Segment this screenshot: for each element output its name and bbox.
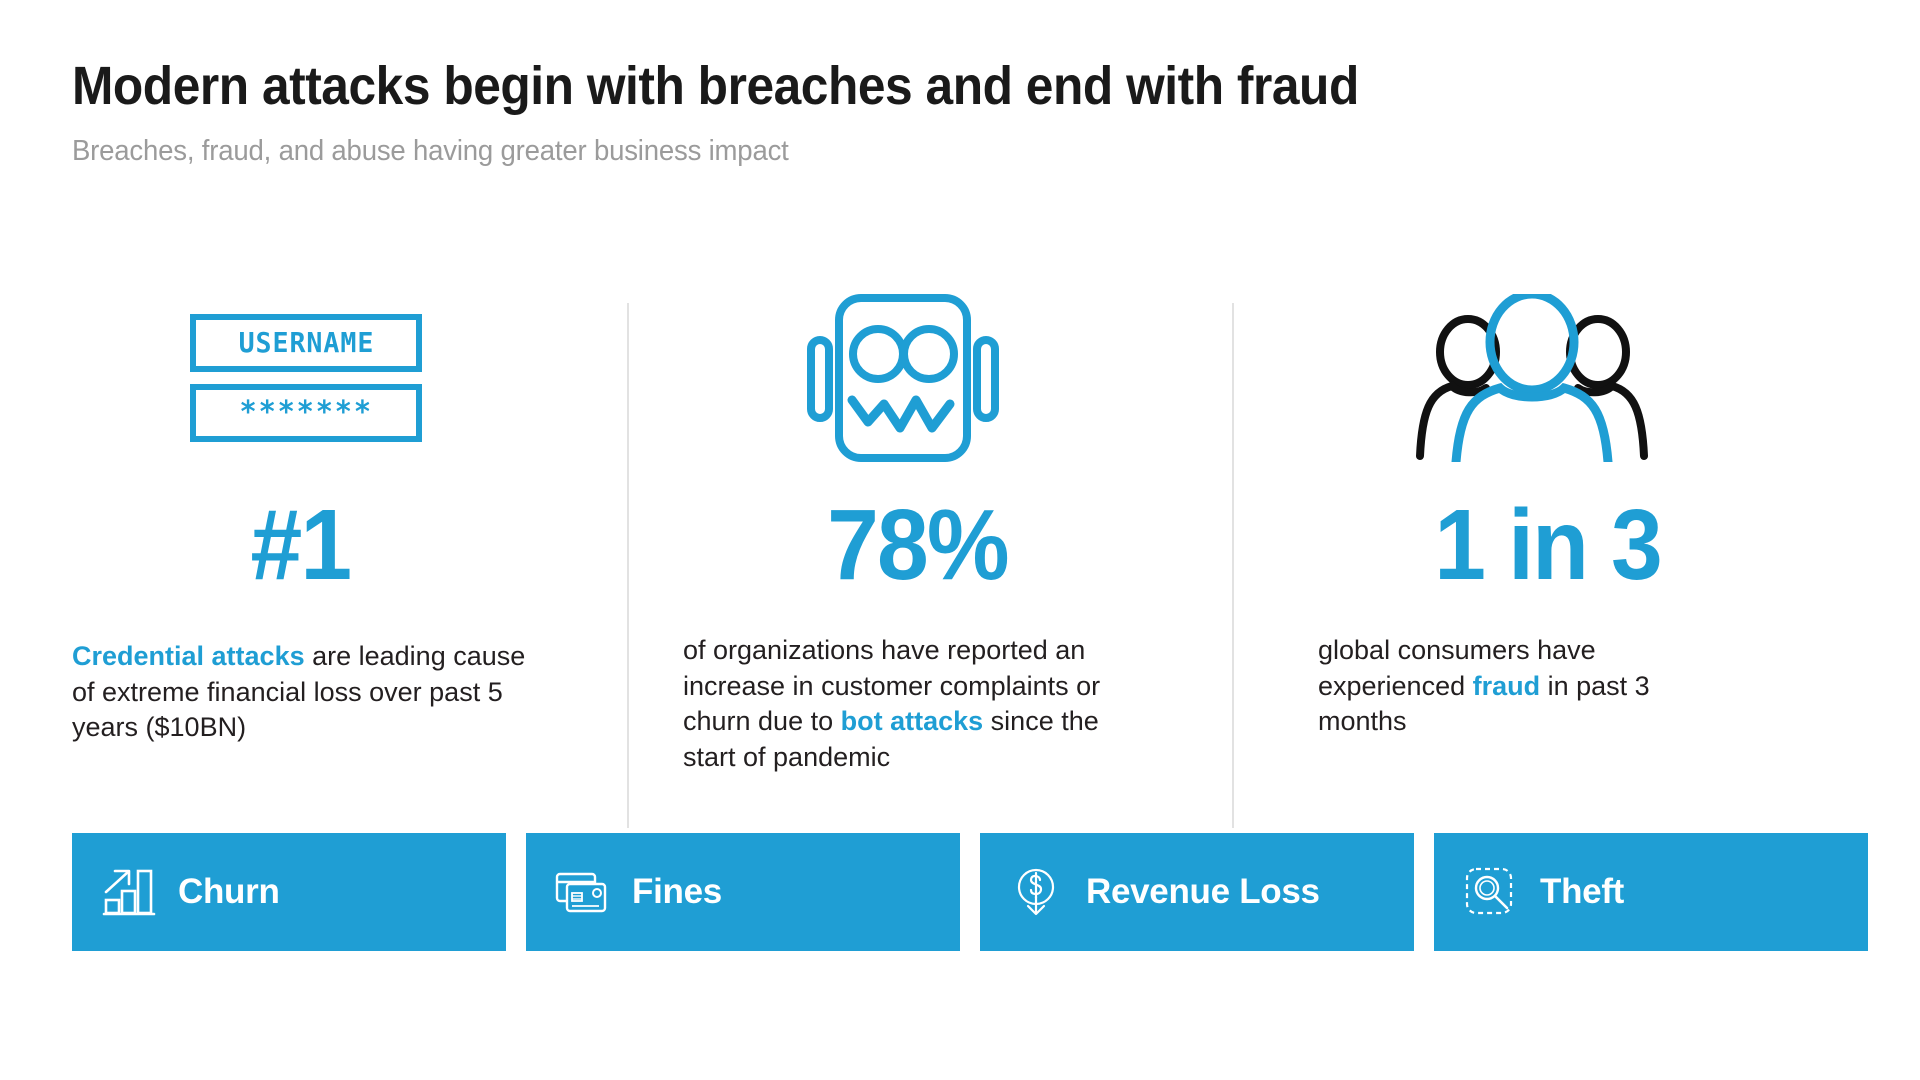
stat-value-bots: 78% (683, 489, 1167, 601)
stat-description-consumers: global consumers have experienced fraud … (1318, 633, 1738, 740)
stat-description-bots: of organizations have reported an increa… (683, 633, 1145, 776)
banner-button-theft[interactable]: Theft (1434, 833, 1868, 951)
stat-column-credentials: USERNAME ******* #1 Credential attacks a… (72, 290, 592, 746)
banner-label-theft: Theft (1540, 872, 1624, 912)
credit-cards-icon (552, 863, 612, 921)
password-masked-label: ******* (239, 398, 372, 428)
stat-description-credentials: Credential attacks are leading cause of … (72, 639, 532, 746)
highlight-credential-attacks: Credential attacks (72, 641, 305, 671)
stat-column-bots: 78% of organizations have reported an in… (683, 290, 1203, 776)
bot-icon (805, 292, 1001, 464)
bot-icon-wrap (683, 290, 1203, 465)
column-divider-2 (1232, 303, 1234, 828)
slide-header: Modern attacks begin with breaches and e… (72, 58, 1772, 168)
page-title: Modern attacks begin with breaches and e… (72, 58, 1636, 115)
banner-button-churn[interactable]: Churn (72, 833, 506, 951)
username-label: USERNAME (238, 329, 374, 357)
dollar-down-arrow-icon (1006, 863, 1066, 921)
username-field-box: USERNAME (190, 314, 422, 372)
impact-banner-row: Churn Fines Revenue L (72, 833, 1862, 951)
banner-label-revenue-loss: Revenue Loss (1086, 872, 1320, 912)
people-group-icon-wrap (1318, 290, 1838, 465)
slide-root: Modern attacks begin with breaches and e… (0, 0, 1920, 1080)
magnifier-dashed-box-icon (1460, 863, 1520, 921)
banner-label-fines: Fines (632, 872, 722, 912)
credentials-icon-wrap: USERNAME ******* (72, 290, 592, 465)
people-group-icon (1416, 294, 1648, 462)
banner-button-fines[interactable]: Fines (526, 833, 960, 951)
page-subtitle: Breaches, fraud, and abuse having greate… (72, 135, 1687, 168)
bar-chart-growth-icon (98, 863, 158, 921)
highlight-bot-attacks: bot attacks (841, 706, 984, 736)
stat-column-consumers: 1 in 3 global consumers have experienced… (1318, 290, 1838, 740)
highlight-fraud: fraud (1473, 671, 1541, 701)
banner-button-revenue-loss[interactable]: Revenue Loss (980, 833, 1414, 951)
password-field-box: ******* (190, 384, 422, 442)
banner-label-churn: Churn (178, 872, 280, 912)
column-divider-1 (627, 303, 629, 828)
stat-value-credentials: #1 (72, 489, 556, 601)
credentials-icon: USERNAME ******* (190, 314, 422, 442)
stat-value-consumers: 1 in 3 (1318, 489, 1802, 601)
